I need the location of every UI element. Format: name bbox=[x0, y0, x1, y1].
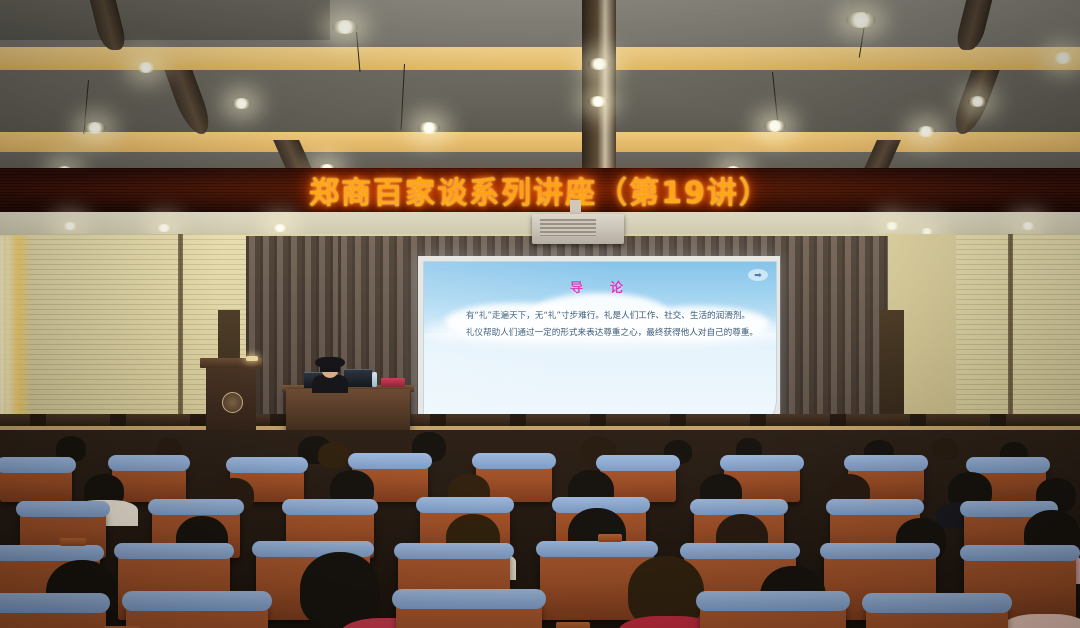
seat-trim bbox=[122, 591, 272, 611]
seat-trim bbox=[844, 455, 928, 471]
seat-trim bbox=[820, 543, 940, 559]
stage-front-edge bbox=[0, 414, 1080, 426]
seat-trim bbox=[966, 457, 1050, 473]
ceiling-light bbox=[1052, 52, 1074, 64]
stage-slat bbox=[190, 414, 206, 426]
laptop bbox=[344, 369, 372, 387]
stage-slat bbox=[830, 414, 846, 426]
speaker-table bbox=[286, 389, 410, 435]
stage-slat bbox=[270, 414, 286, 426]
seat bbox=[396, 594, 542, 628]
seat-trim bbox=[226, 457, 308, 473]
soffit-light bbox=[1020, 222, 1036, 230]
seat bbox=[0, 598, 106, 628]
seat-trim bbox=[16, 501, 110, 517]
seat-trim bbox=[696, 591, 850, 611]
stage-slat bbox=[430, 414, 446, 426]
ceiling-light bbox=[588, 58, 610, 70]
ceiling-beam bbox=[0, 47, 1080, 70]
seat bbox=[0, 462, 72, 502]
soffit-light bbox=[62, 222, 78, 230]
stage-slat bbox=[990, 414, 1006, 426]
speaker-hat bbox=[315, 357, 345, 368]
seat-trim bbox=[680, 543, 800, 559]
podium-emblem bbox=[222, 392, 243, 413]
stage-slat bbox=[590, 414, 606, 426]
audience-area bbox=[0, 430, 1080, 628]
projector bbox=[532, 214, 624, 244]
stage-slat bbox=[670, 414, 686, 426]
seat-trim bbox=[0, 593, 110, 613]
soffit-light bbox=[156, 224, 172, 232]
seat-trim bbox=[148, 499, 244, 515]
audience-head bbox=[318, 442, 350, 468]
soffit-light bbox=[884, 222, 900, 230]
ceiling-panel bbox=[0, 70, 1080, 132]
soffit-light bbox=[272, 224, 288, 232]
red-folder bbox=[381, 378, 405, 387]
seat bbox=[126, 596, 268, 628]
podium-lamp bbox=[246, 356, 258, 361]
seat-trim bbox=[394, 543, 514, 559]
slide-body: 有“礼”走遍天下，无“礼”寸步难行。礼是人们工作、社交、生活的润滑剂。 礼仪帮助… bbox=[449, 310, 759, 344]
ceiling-light bbox=[846, 12, 876, 28]
seat-trim bbox=[826, 499, 924, 515]
seat-trim bbox=[690, 499, 788, 515]
seat-trim bbox=[416, 497, 514, 513]
ceiling-light bbox=[968, 96, 987, 107]
projector-grill bbox=[540, 219, 596, 236]
seat-trim bbox=[0, 457, 76, 473]
slide-title: 导 论 bbox=[424, 277, 776, 296]
ceiling-light bbox=[588, 96, 608, 107]
seat-trim bbox=[114, 543, 234, 559]
slide-paragraph: 礼仪帮助人们通过一定的形式来表达尊重之心，最终获得他人对自己的尊重。 bbox=[449, 327, 759, 341]
seat-trim bbox=[862, 593, 1012, 613]
audience-head bbox=[932, 438, 958, 460]
ceiling-panel bbox=[0, 0, 330, 40]
seat-trim bbox=[720, 455, 804, 471]
speaker-person bbox=[312, 357, 348, 391]
ceiling-light bbox=[84, 122, 106, 134]
ceiling-light bbox=[136, 62, 156, 73]
wall-panel-right bbox=[952, 234, 1080, 434]
ceiling-light bbox=[418, 122, 440, 134]
ceiling-light bbox=[232, 98, 251, 109]
seat-trim bbox=[348, 453, 432, 469]
ceiling-light bbox=[764, 120, 786, 132]
slide-paragraph: 有“礼”走遍天下，无“礼”寸步难行。礼是人们工作、社交、生活的润滑剂。 bbox=[449, 310, 759, 324]
seat-desk bbox=[598, 534, 622, 542]
projection-screen: ➡ 导 论 有“礼”走遍天下，无“礼”寸步难行。礼是人们工作、社交、生活的润滑剂… bbox=[418, 256, 780, 436]
seat bbox=[866, 598, 1008, 628]
wall-seam bbox=[1008, 234, 1013, 434]
stage-slat bbox=[30, 414, 46, 426]
wall-light-glow bbox=[6, 236, 32, 434]
audience-head bbox=[300, 552, 380, 628]
lecture-hall-photo: 郑商百家谈系列讲座（第19讲） ➡ bbox=[0, 0, 1080, 628]
slide: ➡ 导 论 有“礼”走遍天下，无“礼”寸步难行。礼是人们工作、社交、生活的润滑剂… bbox=[423, 261, 777, 433]
seat bbox=[700, 596, 846, 628]
wall-seam bbox=[178, 234, 183, 434]
seat-desk bbox=[60, 538, 86, 546]
seat-trim bbox=[0, 545, 104, 561]
seat-trim bbox=[282, 499, 378, 515]
ceiling-rib bbox=[582, 0, 616, 178]
stage-slat bbox=[510, 414, 526, 426]
stage-slat bbox=[750, 414, 766, 426]
led-banner-text: 郑商百家谈系列讲座（第19讲） bbox=[309, 168, 771, 212]
seat-trim bbox=[108, 455, 190, 471]
ceiling-light bbox=[332, 20, 358, 34]
stage-slat bbox=[110, 414, 126, 426]
led-banner: 郑商百家谈系列讲座（第19讲） bbox=[0, 168, 1080, 212]
seat-trim bbox=[392, 589, 546, 609]
seat-desk bbox=[556, 622, 590, 628]
seat-trim bbox=[472, 453, 556, 469]
stage-slat bbox=[910, 414, 926, 426]
water-bottle bbox=[372, 372, 377, 387]
seat-trim bbox=[536, 541, 658, 557]
seat-trim bbox=[596, 455, 680, 471]
ceiling-light bbox=[916, 126, 936, 137]
seat-trim bbox=[960, 545, 1080, 561]
ceiling bbox=[0, 0, 1080, 178]
